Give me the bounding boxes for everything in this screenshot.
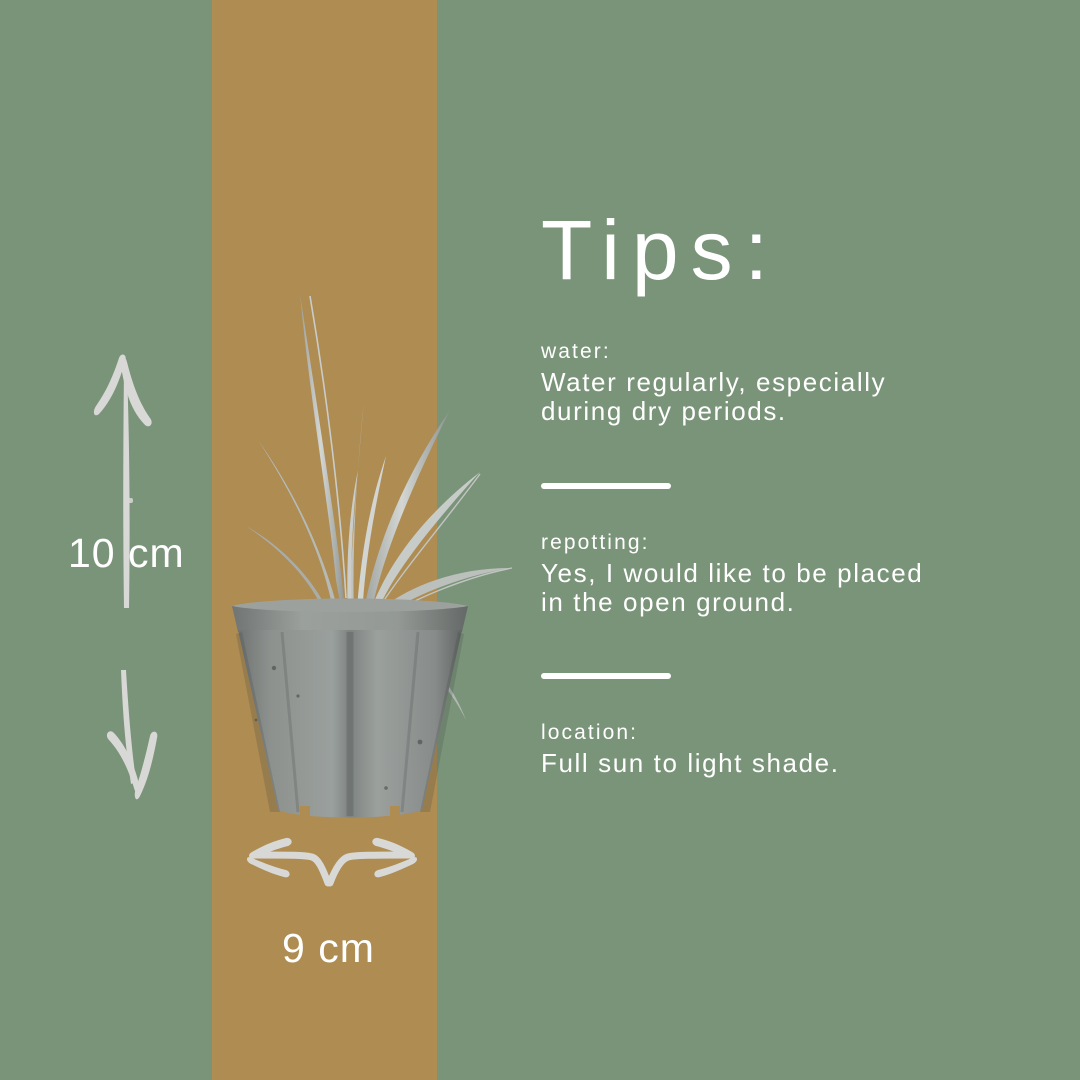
tip-section-repotting: repotting: Yes, I would like to be place… [541, 529, 1041, 618]
tip-body-repotting-line2: in the open ground. [541, 588, 1041, 617]
potted-plant-image [150, 250, 550, 850]
tip-label-water: water: [541, 338, 1041, 366]
height-dimension-label: 10 cm [68, 530, 185, 577]
spacer-2 [541, 489, 1041, 529]
tip-section-water: water: Water regularly, especially durin… [541, 338, 1041, 427]
tip-label-location: location: [541, 719, 1041, 747]
height-dimension-arrow [80, 340, 190, 820]
tip-body-location-line1: Full sun to light shade. [541, 749, 1041, 778]
tip-body-repotting: Yes, I would like to be placed in the op… [541, 559, 1041, 617]
width-dimension-label: 9 cm [282, 925, 375, 972]
tip-body-location: Full sun to light shade. [541, 749, 1041, 778]
tip-body-water-line1: Water regularly, especially [541, 368, 1041, 397]
tips-title: Tips: [541, 208, 1041, 292]
width-dimension-arrow [232, 835, 432, 905]
spacer-1 [541, 427, 1041, 483]
spacer-3 [541, 617, 1041, 673]
plant-care-card: 10 cm 9 cm Tips: water: Water regularly,… [0, 0, 1080, 1080]
tip-section-location: location: Full sun to light shade. [541, 719, 1041, 778]
tip-body-water: Water regularly, especially during dry p… [541, 368, 1041, 426]
spacer-4 [541, 679, 1041, 719]
tip-label-repotting: repotting: [541, 529, 1041, 557]
tip-body-water-line2: during dry periods. [541, 397, 1041, 426]
tips-panel: Tips: water: Water regularly, especially… [541, 208, 1041, 779]
tip-body-repotting-line1: Yes, I would like to be placed [541, 559, 1041, 588]
